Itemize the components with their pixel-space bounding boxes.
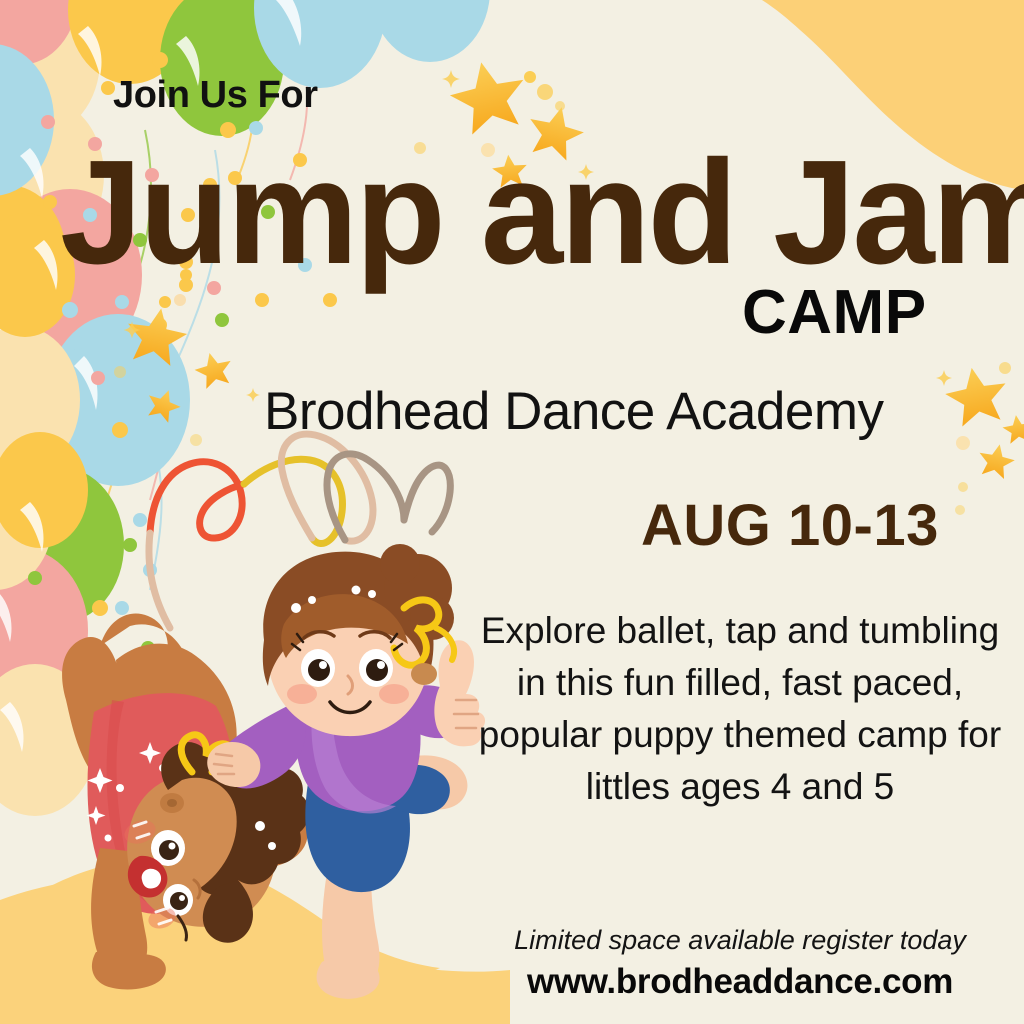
organization-name: Brodhead Dance Academy: [264, 381, 884, 442]
footer-tagline: Limited space available register today: [470, 925, 1010, 956]
page-title: Jump and Jam: [60, 138, 1024, 289]
camp-subtitle: CAMP: [742, 277, 927, 348]
handstand-hand-left: [92, 951, 166, 989]
website-url[interactable]: www.brodheaddance.com: [470, 962, 1010, 1002]
standing-foot: [317, 957, 380, 999]
event-dates: AUG 10-13: [641, 492, 939, 559]
girl-standing: [207, 544, 485, 999]
event-description: Explore ballet, tap and tumbling in this…: [470, 605, 1010, 813]
eyebrow-text: Join Us For: [113, 74, 318, 117]
poster-canvas: Join Us For Jump and Jam CAMP Brodhead D…: [0, 0, 1024, 1024]
